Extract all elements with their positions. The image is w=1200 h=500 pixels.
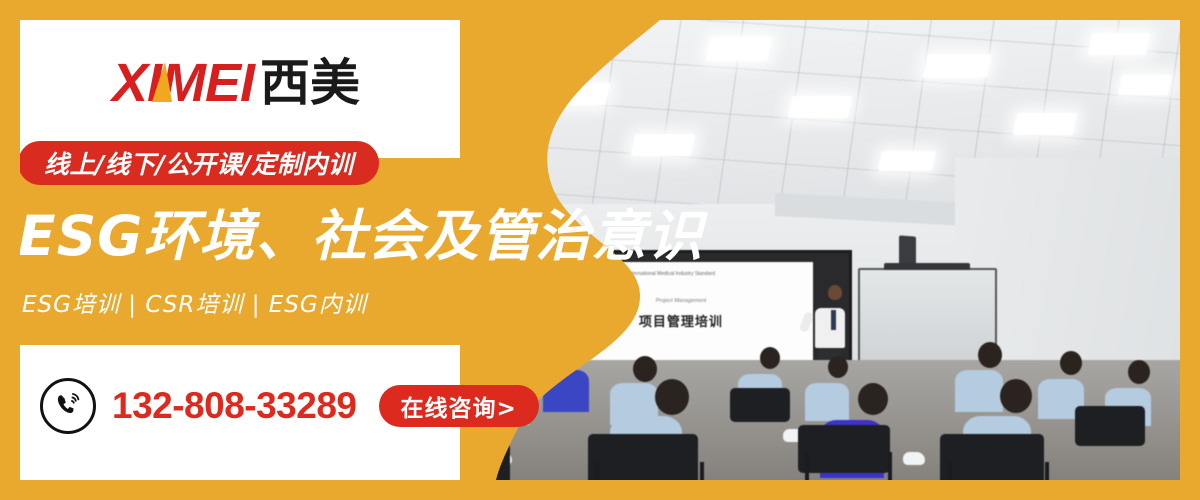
frame-left <box>0 0 20 500</box>
promo-banner: XIMEI 西美 International Medical Industry … <box>0 0 1200 500</box>
logo-latin-text: XIMEI <box>112 56 254 110</box>
company-logo: XIMEI 西美 <box>112 52 360 114</box>
page-title: ESG环境、社会及管治意识 <box>18 206 703 267</box>
online-consult-button[interactable]: 在线咨询> <box>379 385 539 427</box>
page-subtitle: ESG培训 | CSR培训 | ESG内训 <box>22 285 367 319</box>
phone-number: 132-808-33289 <box>112 385 357 427</box>
frame-top <box>0 0 1200 20</box>
frame-right <box>1180 0 1200 500</box>
logo-wedge-accent-icon <box>152 62 172 102</box>
contact-row: 132-808-33289 在线咨询> <box>40 378 539 434</box>
phone-call-icon <box>40 378 96 434</box>
course-format-badge: 线上/线下/公开课/定制内训 <box>18 141 379 185</box>
logo-chinese-text: 西美 <box>260 58 360 108</box>
frame-bottom <box>0 480 1200 500</box>
